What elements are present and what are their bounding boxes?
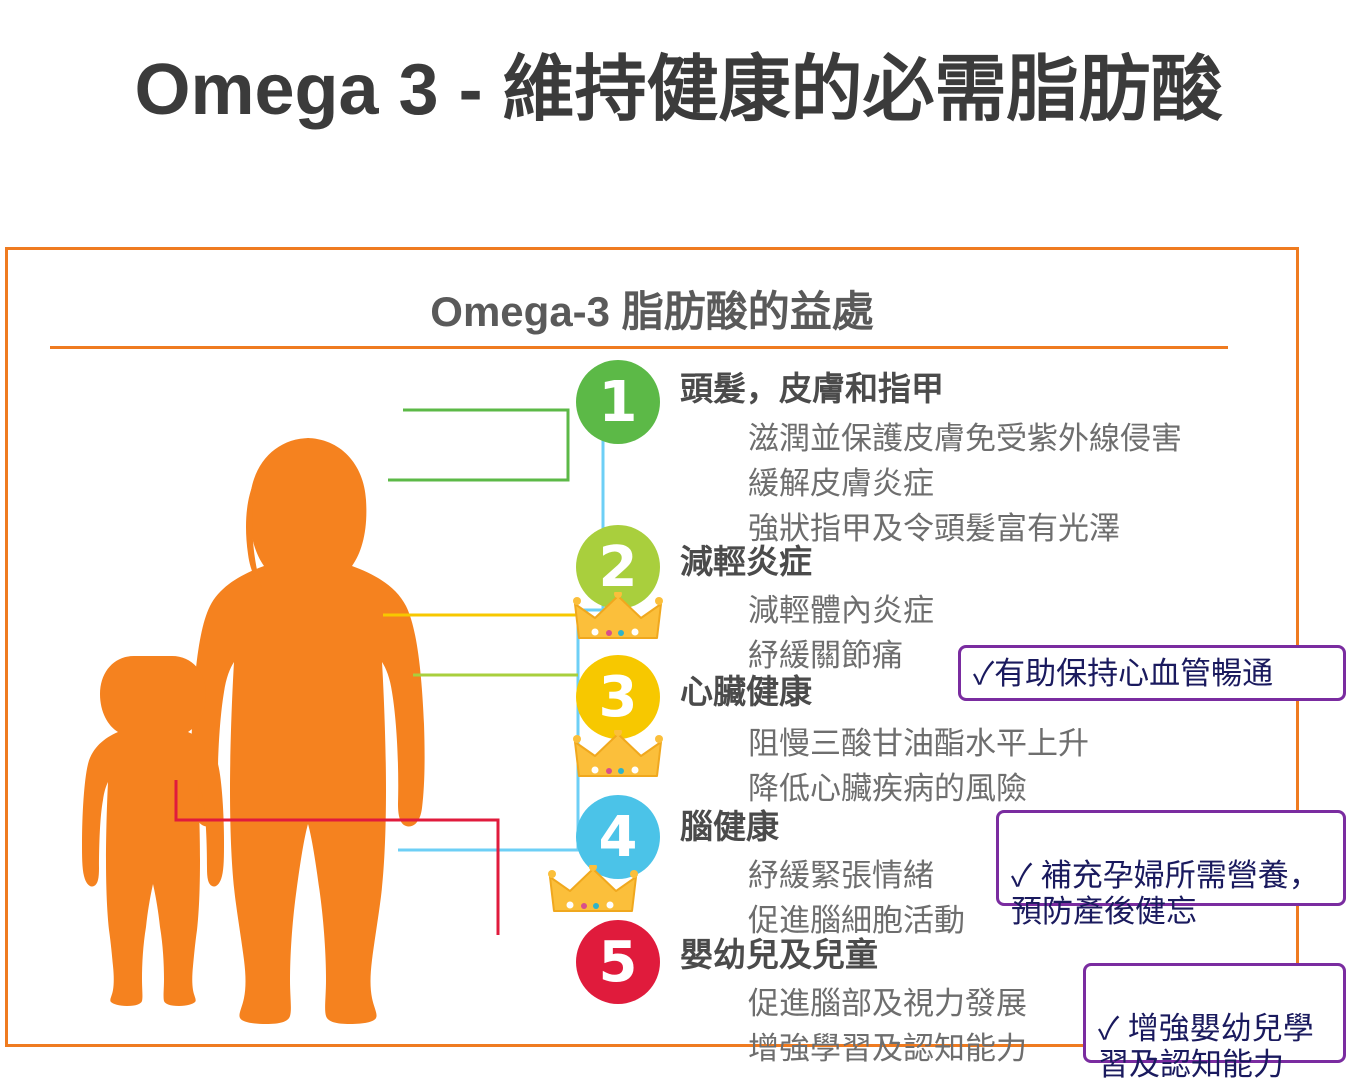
bullet-circle-5: 5 (576, 920, 660, 1004)
callout-pregnancy: ✓ 補充孕婦所需營養， 預防產後健忘 (996, 810, 1346, 906)
callout-infant-learning-text: ✓ 增強嬰幼兒學 習及認知能力 (1098, 1011, 1314, 1083)
crown-icon-3 (548, 865, 638, 915)
item-5-heading: 嬰幼兒及兒童 (680, 928, 878, 976)
bullet-circle-1: 1 (576, 360, 660, 444)
item-1-line-2: 緩解皮膚炎症 (748, 458, 934, 503)
title-divider (50, 346, 1228, 349)
item-1-line-1: 滋潤並保護皮膚免受紫外線侵害 (748, 413, 1182, 458)
item-2-heading: 減輕炎症 (680, 535, 812, 583)
infographic-title: Omega-3 脂肪酸的益處 (8, 278, 1296, 339)
page-title: Omega 3 - 維持健康的必需脂肪酸 (0, 30, 1357, 135)
item-5-line-1: 促進腦部及視力發展 (748, 978, 1027, 1023)
bullet-number-3: 3 (599, 665, 638, 730)
item-3-line-1: 阻慢三酸甘油酯水平上升 (748, 718, 1089, 763)
item-4-line-1: 紓緩緊張情緒 (748, 850, 934, 895)
crown-icon-2 (573, 730, 663, 780)
callout-infant-learning: ✓ 增強嬰幼兒學 習及認知能力 (1083, 963, 1346, 1063)
bullet-number-2: 2 (599, 535, 638, 600)
bullet-number-5: 5 (599, 930, 638, 995)
callout-cardiovascular: ✓有助保持心血管暢通 (958, 645, 1346, 701)
item-5-line-2: 增強學習及認知能力 (748, 1023, 1027, 1068)
callout-cardiovascular-text: ✓有助保持心血管暢通 (973, 656, 1273, 691)
crown-icon-1 (573, 592, 663, 642)
bullet-circle-3: 3 (576, 655, 660, 739)
item-4-heading: 腦健康 (680, 800, 779, 848)
item-2-line-1: 減輕體內炎症 (748, 585, 934, 630)
bullet-number-4: 4 (599, 805, 638, 870)
item-3-line-2: 降低心臟疾病的風險 (748, 763, 1027, 808)
item-3-heading: 心臟健康 (680, 665, 812, 713)
item-1-heading: 頭髮，皮膚和指甲 (680, 362, 944, 410)
connector-lines (148, 380, 628, 1020)
bullet-number-1: 1 (599, 370, 638, 435)
